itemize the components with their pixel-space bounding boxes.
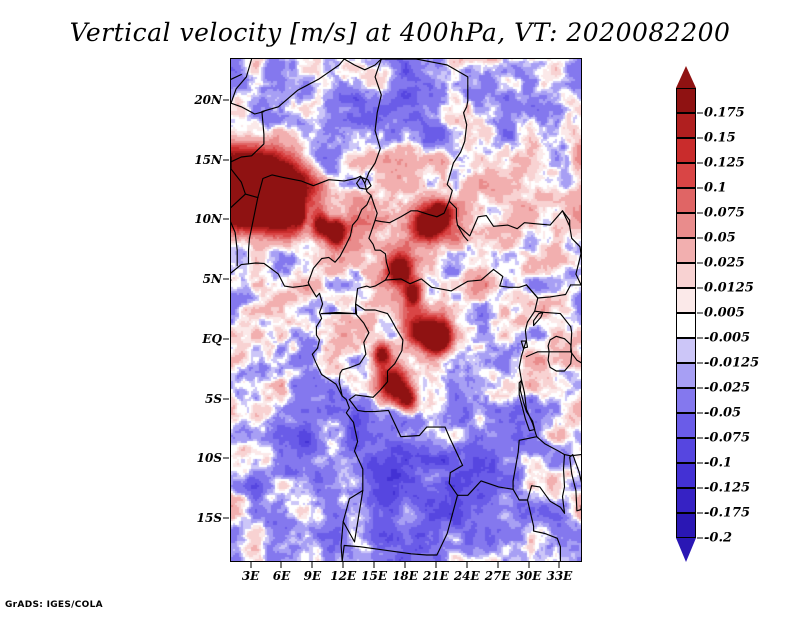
colorbar-segment[interactable] (676, 213, 696, 238)
y-tick-mark (223, 99, 229, 100)
border-polyline (365, 59, 382, 183)
border-polyline (231, 59, 252, 103)
x-tick-label: 21E (423, 569, 449, 583)
colorbar[interactable]: 0.1750.150.1250.10.0750.050.0250.01250.0… (660, 58, 800, 563)
border-polyline (538, 285, 571, 298)
colorbar-label: 0.175 (704, 106, 745, 121)
colorbar-label: 0.05 (704, 231, 736, 246)
border-polyline (231, 194, 258, 266)
border-polyline (349, 304, 403, 400)
x-tick-mark (405, 562, 406, 568)
y-tick-label: 10S (180, 451, 222, 465)
colorbar-segment[interactable] (676, 388, 696, 413)
colorbar-label: 0.025 (704, 256, 745, 271)
border-polyline (322, 220, 390, 313)
border-polyline (231, 263, 363, 561)
colorbar-label: -0.05 (704, 406, 741, 421)
x-tick-label: 6E (273, 569, 291, 583)
border-polyline (381, 59, 468, 225)
colorbar-segment[interactable] (676, 438, 696, 463)
y-tick-mark (223, 338, 229, 339)
x-tick-label: 30E (516, 569, 542, 583)
colorbar-tick (697, 413, 703, 414)
x-tick-label: 27E (485, 569, 511, 583)
colorbar-tick (697, 313, 703, 314)
colorbar-label: -0.005 (704, 331, 750, 346)
x-tick-mark (435, 562, 436, 568)
border-polyline (322, 304, 356, 314)
colorbar-tick (697, 388, 703, 389)
x-tick-mark (559, 562, 560, 568)
colorbar-under-arrow (676, 538, 696, 562)
border-polyline (231, 75, 241, 80)
border-polyline (458, 481, 565, 513)
border-polyline (576, 254, 581, 285)
colorbar-tick (697, 463, 703, 464)
border-polyline (231, 59, 344, 194)
colorbar-label: -0.125 (704, 481, 750, 496)
y-tick-label: 15N (180, 153, 222, 167)
colorbar-segment[interactable] (676, 263, 696, 288)
border-polyline (563, 455, 565, 514)
colorbar-segment[interactable] (676, 513, 696, 538)
colorbar-segment[interactable] (676, 363, 696, 388)
x-tick-label: 33E (546, 569, 572, 583)
x-tick-mark (374, 562, 375, 568)
border-polyline (258, 175, 365, 198)
border-polyline (349, 400, 462, 496)
border-polyline (537, 437, 581, 456)
border-polyline (344, 59, 381, 70)
colorbar-segment[interactable] (676, 113, 696, 138)
x-tick-mark (250, 562, 251, 568)
colorbar-segment[interactable] (676, 188, 696, 213)
y-tick-mark (223, 518, 229, 519)
colorbar-segment[interactable] (676, 288, 696, 313)
colorbar-label: 0.15 (704, 131, 736, 146)
colorbar-label: 0.125 (704, 156, 745, 171)
colorbar-label: -0.025 (704, 381, 750, 396)
border-polyline (371, 195, 377, 220)
colorbar-segment[interactable] (676, 313, 696, 338)
x-tick-mark (528, 562, 529, 568)
border-polyline (339, 314, 369, 397)
colorbar-label: 0.1 (704, 181, 727, 196)
page-title: Vertical velocity [m/s] at 400hPa, VT: 2… (0, 18, 800, 47)
colorbar-tick (697, 238, 703, 239)
border-polyline (375, 201, 449, 223)
colorbar-tick (697, 513, 703, 514)
x-tick-label: 3E (242, 569, 260, 583)
x-tick-label: 24E (454, 569, 480, 583)
colorbar-tick (697, 213, 703, 214)
border-polyline (342, 495, 457, 561)
y-tick-mark (223, 159, 229, 160)
x-tick-mark (312, 562, 313, 568)
y-tick-label: 10N (180, 212, 222, 226)
colorbar-tick (697, 188, 703, 189)
colorbar-tick (697, 538, 703, 539)
x-tick-label: 15E (361, 569, 387, 583)
y-tick-label: 20N (180, 93, 222, 107)
colorbar-segment[interactable] (676, 88, 696, 113)
colorbar-label: -0.2 (704, 531, 732, 546)
colorbar-tick (697, 263, 703, 264)
border-polyline (385, 269, 526, 291)
border-polyline (308, 183, 371, 285)
colorbar-segment[interactable] (676, 488, 696, 513)
border-polyline (570, 226, 581, 254)
x-tick-label: 9E (304, 569, 322, 583)
colorbar-over-arrow (676, 66, 696, 88)
colorbar-segment[interactable] (676, 463, 696, 488)
country-borders-overlay (231, 59, 581, 561)
colorbar-segment[interactable] (676, 238, 696, 263)
colorbar-tick (697, 488, 703, 489)
footer-credit: GrADS: IGES/COLA (5, 600, 103, 610)
y-tick-label: 5N (180, 272, 222, 286)
colorbar-label: 0.075 (704, 206, 745, 221)
colorbar-label: -0.0125 (704, 356, 759, 371)
x-tick-mark (281, 562, 282, 568)
x-tick-mark (343, 562, 344, 568)
colorbar-segment[interactable] (676, 338, 696, 363)
colorbar-segment[interactable] (676, 138, 696, 163)
colorbar-tick (697, 138, 703, 139)
colorbar-label: -0.175 (704, 506, 750, 521)
border-polyline (548, 336, 572, 371)
border-polyline (528, 500, 561, 561)
colorbar-tick (697, 163, 703, 164)
y-tick-label: EQ (180, 332, 222, 346)
border-polyline (570, 455, 581, 511)
colorbar-tick (697, 363, 703, 364)
colorbar-segment[interactable] (676, 163, 696, 188)
x-tick-label: 12E (330, 569, 356, 583)
colorbar-tick (697, 438, 703, 439)
x-tick-mark (466, 562, 467, 568)
border-polyline (534, 312, 543, 325)
border-polyline (357, 177, 371, 189)
colorbar-label: 0.0125 (704, 281, 754, 296)
colorbar-tick (697, 288, 703, 289)
colorbar-tick (697, 338, 703, 339)
y-tick-mark (223, 458, 229, 459)
grads-plot-root: Vertical velocity [m/s] at 400hPa, VT: 2… (0, 0, 800, 618)
border-polyline (571, 327, 581, 363)
border-polyline (249, 198, 258, 264)
y-tick-label: 5S (180, 392, 222, 406)
y-tick-mark (223, 398, 229, 399)
map-panel[interactable] (230, 58, 582, 562)
border-polyline (526, 285, 537, 298)
x-tick-mark (497, 562, 498, 568)
x-tick-label: 18E (392, 569, 418, 583)
colorbar-label: -0.075 (704, 431, 750, 446)
colorbar-tick (697, 113, 703, 114)
y-tick-label: 15S (180, 511, 222, 525)
colorbar-label: 0.005 (704, 306, 745, 321)
border-polyline (343, 491, 363, 542)
border-polyline (231, 103, 264, 114)
y-tick-mark (223, 219, 229, 220)
y-tick-mark (223, 279, 229, 280)
colorbar-label: -0.1 (704, 456, 732, 471)
border-polyline (513, 285, 538, 489)
colorbar-segment[interactable] (676, 413, 696, 438)
border-polyline (458, 211, 570, 236)
